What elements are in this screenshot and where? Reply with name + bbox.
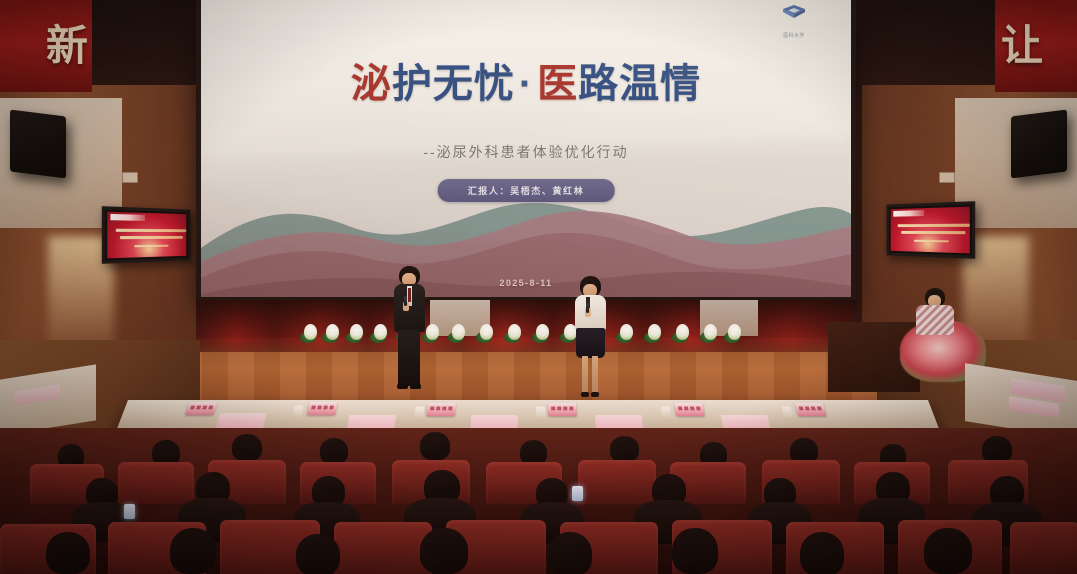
water-cup	[661, 407, 672, 418]
presenter-female-leg	[592, 356, 598, 394]
presenter-female-shoe	[581, 392, 589, 397]
hall-banner-left: 新	[0, 0, 92, 92]
auditorium-presentation-scene: 新 让	[0, 0, 1077, 574]
wall-outlet-left	[122, 172, 138, 183]
monitor-text-line	[914, 240, 949, 243]
monitor-text-line	[116, 229, 187, 232]
audience-member	[610, 436, 639, 462]
microphone	[404, 296, 407, 306]
nameplate	[426, 403, 455, 416]
wall-outlet-right	[939, 172, 955, 183]
audience-member	[296, 534, 340, 574]
presenter-female-leg	[582, 356, 588, 394]
water-cup	[536, 407, 545, 418]
side-monitor-left-screen	[107, 212, 186, 259]
nameplate	[185, 402, 217, 415]
presenter-male-tie	[408, 288, 411, 302]
presenter-male-shoe	[397, 384, 408, 389]
presenter-male	[386, 266, 432, 392]
audience-member	[800, 532, 844, 574]
seated-attendant-right	[912, 288, 958, 348]
side-monitor-right	[886, 201, 975, 259]
audience-member	[982, 436, 1012, 463]
presenter-female-shoe	[591, 392, 599, 397]
nameplate	[674, 403, 704, 416]
audience-member	[232, 434, 262, 461]
nameplate	[548, 403, 577, 416]
hall-banner-right: 让	[995, 0, 1077, 92]
wall-speaker-left	[10, 110, 66, 179]
slide-presenter-badge: 汇报人：吴梧杰、黄红林	[438, 179, 615, 202]
presenter-male-shoe	[410, 384, 421, 389]
slide-title-part-2: 护无忧	[392, 62, 515, 106]
presenter-female	[568, 276, 612, 400]
slide-title-separator: ·	[515, 62, 537, 106]
monitor-text-line	[901, 231, 965, 234]
audience-member	[420, 528, 468, 574]
nameplate	[307, 402, 338, 415]
institution-logo-text: 医科大学	[765, 32, 823, 39]
monitor-header-bar	[110, 214, 145, 221]
monitor-text-line	[898, 224, 970, 227]
slide-subtitle: --泌尿外科患者体验优化行动	[201, 142, 851, 162]
shield-logo-icon	[781, 4, 807, 26]
water-cup	[782, 407, 794, 418]
audience-member	[320, 438, 348, 464]
slide-title: 泌护无忧·医路温情	[201, 64, 851, 104]
hall-banner-left-text: 新	[46, 25, 88, 67]
presentation-slide: 医科大学 泌护无忧·医路温情 --泌尿外科患者体验优化行动 汇报人：吴梧杰、黄红…	[201, 0, 851, 297]
nameplate	[795, 403, 827, 416]
water-cup	[414, 407, 424, 418]
audience-seat	[1010, 522, 1077, 574]
side-monitor-left	[102, 206, 191, 264]
water-cup	[292, 406, 304, 417]
slide-date: 2025-8-11	[201, 278, 851, 288]
audience-member	[548, 532, 592, 574]
attendant-top	[916, 305, 954, 335]
institution-logo: 医科大学	[765, 4, 823, 39]
slide-title-part-3: 医	[537, 62, 578, 106]
slide-title-part-4: 路温情	[578, 62, 701, 106]
hall-banner-right-text: 让	[1001, 25, 1043, 67]
audience-seat	[118, 462, 194, 504]
presenter-female-skirt	[576, 328, 605, 358]
microphone	[586, 303, 589, 313]
audience-member	[46, 532, 90, 574]
audience-seat	[334, 522, 432, 574]
slide-title-part-1: 泌	[351, 62, 392, 106]
audience-seat	[578, 460, 656, 504]
projection-screen: 医科大学 泌护无忧·医路温情 --泌尿外科患者体验优化行动 汇报人：吴梧杰、黄红…	[196, 0, 856, 302]
audience-member	[672, 528, 718, 574]
smartphone-screen	[124, 504, 135, 519]
smartphone-screen	[572, 486, 583, 501]
audience-member	[170, 528, 216, 574]
monitor-header-bar	[893, 210, 924, 217]
presenter-male-legs	[398, 330, 420, 386]
audience-area	[0, 428, 1077, 574]
audience-member	[420, 432, 450, 460]
floral-arrangement-row	[300, 316, 750, 340]
wall-speaker-right	[1011, 110, 1067, 179]
monitor-text-line	[134, 245, 168, 248]
audience-member	[924, 528, 972, 574]
monitor-text-line	[120, 236, 183, 239]
side-monitor-right-screen	[891, 207, 970, 254]
